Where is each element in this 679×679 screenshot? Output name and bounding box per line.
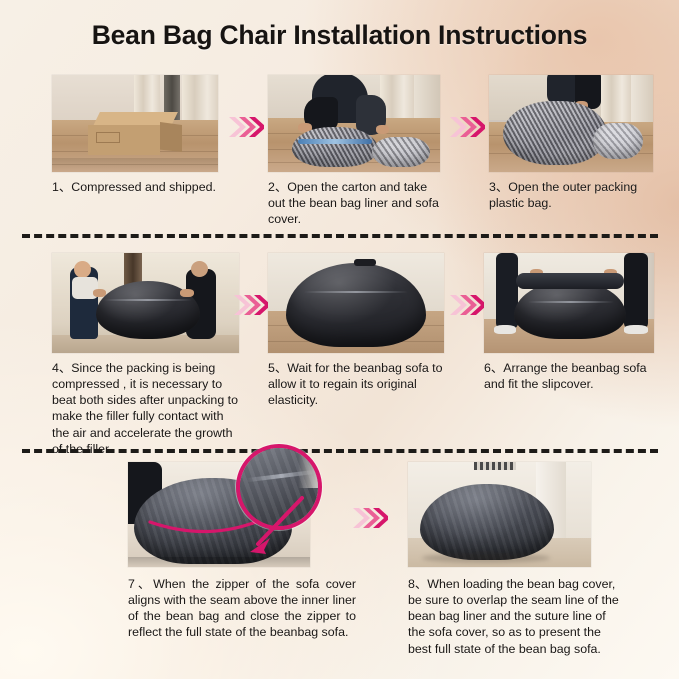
- step-2: 2、Open the carton and take out the bean …: [268, 75, 443, 227]
- step-6-caption: 6、Arrange the beanbag sofa and fit the s…: [484, 360, 656, 392]
- arrow-5-to-6: [449, 292, 485, 318]
- step-8-photo: [408, 462, 591, 567]
- step-1-caption: 1、Compressed and shipped.: [52, 179, 220, 195]
- step-1-photo: [52, 75, 218, 172]
- step-2-caption: 2、Open the carton and take out the bean …: [268, 179, 443, 227]
- arrow-1-to-2: [228, 114, 264, 140]
- step-6-photo: [484, 253, 654, 353]
- step-2-photo: [268, 75, 440, 172]
- step-4: 4、Since the packing is being compressed …: [52, 253, 242, 457]
- page-title: Bean Bag Chair Installation Instructions: [0, 20, 679, 51]
- step-5: 5、Wait for the beanbag sofa to allow it …: [268, 253, 448, 408]
- step-7: 7、When the zipper of the sofa cover alig…: [128, 462, 358, 641]
- arrow-7-to-8: [352, 505, 388, 531]
- step-4-caption: 4、Since the packing is being compressed …: [52, 360, 242, 457]
- step-5-photo: [268, 253, 444, 353]
- instruction-poster: Bean Bag Chair Installation Instructions…: [0, 0, 679, 679]
- step-5-caption: 5、Wait for the beanbag sofa to allow it …: [268, 360, 448, 408]
- step-3: 3、Open the outer packing plastic bag.: [489, 75, 654, 211]
- step-6: 6、Arrange the beanbag sofa and fit the s…: [484, 253, 656, 392]
- arrow-2-to-3: [449, 114, 485, 140]
- step-3-caption: 3、Open the outer packing plastic bag.: [489, 179, 654, 211]
- step-8: 8、When loading the bean bag cover, be su…: [408, 462, 626, 657]
- section-divider-1: [22, 234, 658, 238]
- callout-pointer-arrow: [236, 492, 322, 564]
- step-4-photo: [52, 253, 239, 353]
- step-1: 1、Compressed and shipped.: [52, 75, 220, 195]
- arrow-4-to-5: [233, 292, 269, 318]
- step-8-caption: 8、When loading the bean bag cover, be su…: [408, 576, 622, 657]
- step-7-caption: 7、When the zipper of the sofa cover alig…: [128, 576, 356, 641]
- step-3-photo: [489, 75, 653, 172]
- section-divider-2: [22, 449, 658, 453]
